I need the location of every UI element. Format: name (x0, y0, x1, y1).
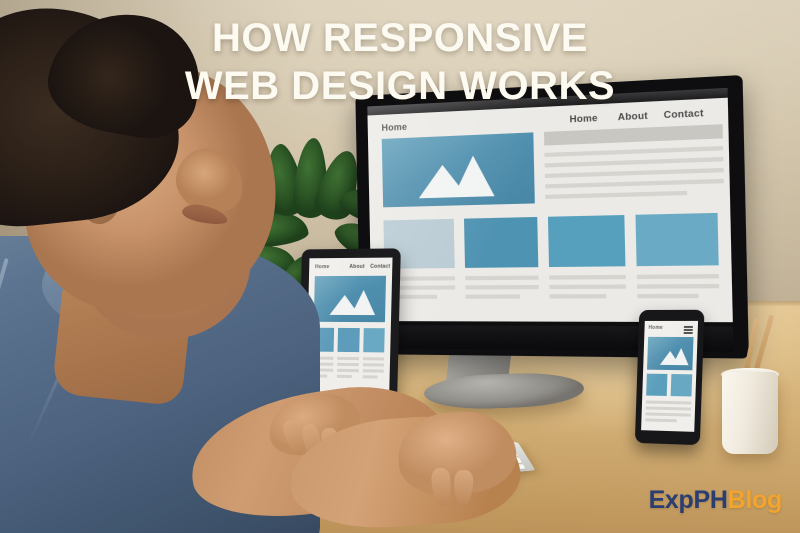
phone-screen[interactable]: Home (641, 321, 698, 432)
monitor-text-line (545, 191, 687, 199)
mountain-image-icon (452, 155, 494, 198)
tablet-card[interactable] (363, 328, 385, 352)
logo-primary: ExpPH (649, 486, 728, 514)
monitor-card-caption (637, 284, 719, 289)
monitor-card-caption (466, 294, 520, 298)
phone-text-line (645, 418, 676, 422)
monitor-card-caption (549, 284, 626, 289)
smartphone[interactable]: Home (635, 310, 705, 445)
pencil-cup (722, 372, 778, 454)
monitor-hero-image[interactable] (382, 132, 535, 207)
phone-card[interactable] (646, 374, 667, 396)
screenshot-canvas: Home Home About Contact (0, 0, 800, 533)
monitor-card-caption (465, 285, 538, 290)
tablet-card-caption (363, 375, 378, 378)
phone-text-line (646, 406, 691, 410)
monitor-card[interactable] (635, 213, 718, 266)
tablet-card-caption (363, 363, 384, 366)
phone-text-line (646, 400, 691, 404)
logo-secondary: Blog (728, 486, 782, 514)
monitor-text-line (544, 146, 723, 157)
monitor-card[interactable] (464, 217, 538, 268)
monitor-card-caption (637, 294, 698, 299)
monitor-site-logo[interactable]: Home (381, 122, 407, 133)
monitor-text-line (544, 124, 723, 145)
tablet-nav-contact[interactable]: Contact (370, 264, 390, 270)
monitor-card-caption (465, 276, 538, 281)
monitor-nav-about[interactable]: About (618, 110, 648, 122)
monitor-nav-contact[interactable]: Contact (664, 108, 704, 121)
monitor-text-line (545, 157, 724, 168)
site-logo[interactable]: ExpPHBlog (649, 486, 782, 515)
monitor-text-line (545, 168, 724, 178)
monitor-card-caption (549, 275, 626, 280)
phone-site-logo[interactable]: Home (648, 325, 663, 331)
hamburger-menu-icon[interactable] (684, 326, 693, 335)
phone-hero-image[interactable] (647, 337, 693, 370)
monitor-card-caption (550, 294, 607, 298)
monitor-card[interactable] (548, 215, 626, 267)
monitor-card-caption (637, 274, 719, 279)
monitor-screen[interactable]: Home Home About Contact (367, 88, 733, 322)
phone-card[interactable] (671, 374, 693, 396)
tablet-card-caption (363, 357, 384, 360)
mountain-image-icon (673, 348, 689, 365)
tablet-card-caption (363, 369, 384, 372)
monitor-nav-home[interactable]: Home (569, 113, 597, 125)
phone-text-line (645, 412, 690, 416)
monitor-text-line (545, 179, 724, 189)
